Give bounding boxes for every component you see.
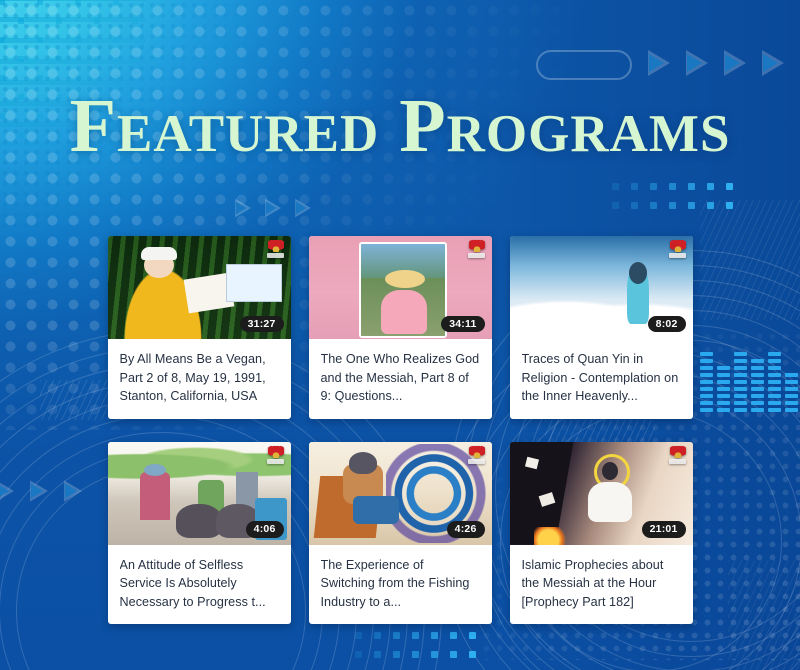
program-title: The One Who Realizes God and the Messiah… bbox=[321, 350, 480, 406]
program-card-body: The Experience of Switching from the Fis… bbox=[309, 545, 492, 625]
supreme-master-tv-logo-icon bbox=[467, 446, 487, 468]
duration-badge: 4:06 bbox=[246, 521, 284, 538]
supreme-master-tv-logo-icon bbox=[266, 240, 286, 262]
program-row-1: 31:27 By All Means Be a Vegan, Part 2 of… bbox=[0, 236, 800, 419]
program-card-grid: 31:27 By All Means Be a Vegan, Part 2 of… bbox=[0, 236, 800, 624]
supreme-master-tv-logo-icon bbox=[668, 240, 688, 262]
program-card[interactable]: 8:02 Traces of Quan Yin in Religion - Co… bbox=[510, 236, 693, 419]
supreme-master-tv-logo-icon bbox=[467, 240, 487, 262]
square-grid-bottom-icon bbox=[355, 632, 476, 658]
program-card[interactable]: 4:06 An Attitude of Selfless Service Is … bbox=[108, 442, 291, 625]
page-title: Featured Programs bbox=[0, 88, 800, 164]
play-triangle-icon bbox=[724, 50, 746, 76]
play-triangle-icon bbox=[235, 199, 251, 218]
program-title: Traces of Quan Yin in Religion - Contemp… bbox=[522, 350, 681, 406]
program-card[interactable]: 34:11 The One Who Realizes God and the M… bbox=[309, 236, 492, 419]
pill-outline-icon bbox=[536, 50, 632, 80]
program-card[interactable]: 21:01 Islamic Prophecies about the Messi… bbox=[510, 442, 693, 625]
program-title: The Experience of Switching from the Fis… bbox=[321, 556, 480, 612]
play-triangle-icon bbox=[686, 50, 708, 76]
program-row-2: 4:06 An Attitude of Selfless Service Is … bbox=[0, 442, 800, 625]
duration-badge: 21:01 bbox=[642, 521, 686, 538]
program-thumbnail[interactable]: 31:27 bbox=[108, 236, 291, 339]
square-grid-icon bbox=[612, 183, 733, 209]
featured-programs-banner: Featured Programs 31:27 bbox=[0, 0, 800, 670]
duration-badge: 34:11 bbox=[441, 316, 484, 333]
program-card[interactable]: 4:26 The Experience of Switching from th… bbox=[309, 442, 492, 625]
supreme-master-tv-logo-icon bbox=[266, 446, 286, 468]
program-card-body: The One Who Realizes God and the Messiah… bbox=[309, 339, 492, 419]
duration-badge: 4:26 bbox=[447, 521, 485, 538]
program-thumbnail[interactable]: 4:06 bbox=[108, 442, 291, 545]
program-card[interactable]: 31:27 By All Means Be a Vegan, Part 2 of… bbox=[108, 236, 291, 419]
play-triangle-icon bbox=[762, 50, 784, 76]
play-triangle-icon bbox=[265, 199, 281, 218]
program-thumbnail[interactable]: 4:26 bbox=[309, 442, 492, 545]
program-title: Islamic Prophecies about the Messiah at … bbox=[522, 556, 681, 612]
program-title: An Attitude of Selfless Service Is Absol… bbox=[120, 556, 279, 612]
supreme-master-tv-logo-icon bbox=[668, 446, 688, 468]
program-thumbnail[interactable]: 21:01 bbox=[510, 442, 693, 545]
program-card-body: Islamic Prophecies about the Messiah at … bbox=[510, 545, 693, 625]
program-card-body: An Attitude of Selfless Service Is Absol… bbox=[108, 545, 291, 625]
duration-badge: 8:02 bbox=[648, 316, 686, 333]
program-thumbnail[interactable]: 34:11 bbox=[309, 236, 492, 339]
program-title: By All Means Be a Vegan, Part 2 of 8, Ma… bbox=[120, 350, 279, 406]
program-thumbnail[interactable]: 8:02 bbox=[510, 236, 693, 339]
play-triangle-icon bbox=[295, 199, 311, 218]
play-triangle-icon bbox=[648, 50, 670, 76]
program-card-body: Traces of Quan Yin in Religion - Contemp… bbox=[510, 339, 693, 419]
duration-badge: 31:27 bbox=[240, 316, 284, 333]
program-card-body: By All Means Be a Vegan, Part 2 of 8, Ma… bbox=[108, 339, 291, 419]
